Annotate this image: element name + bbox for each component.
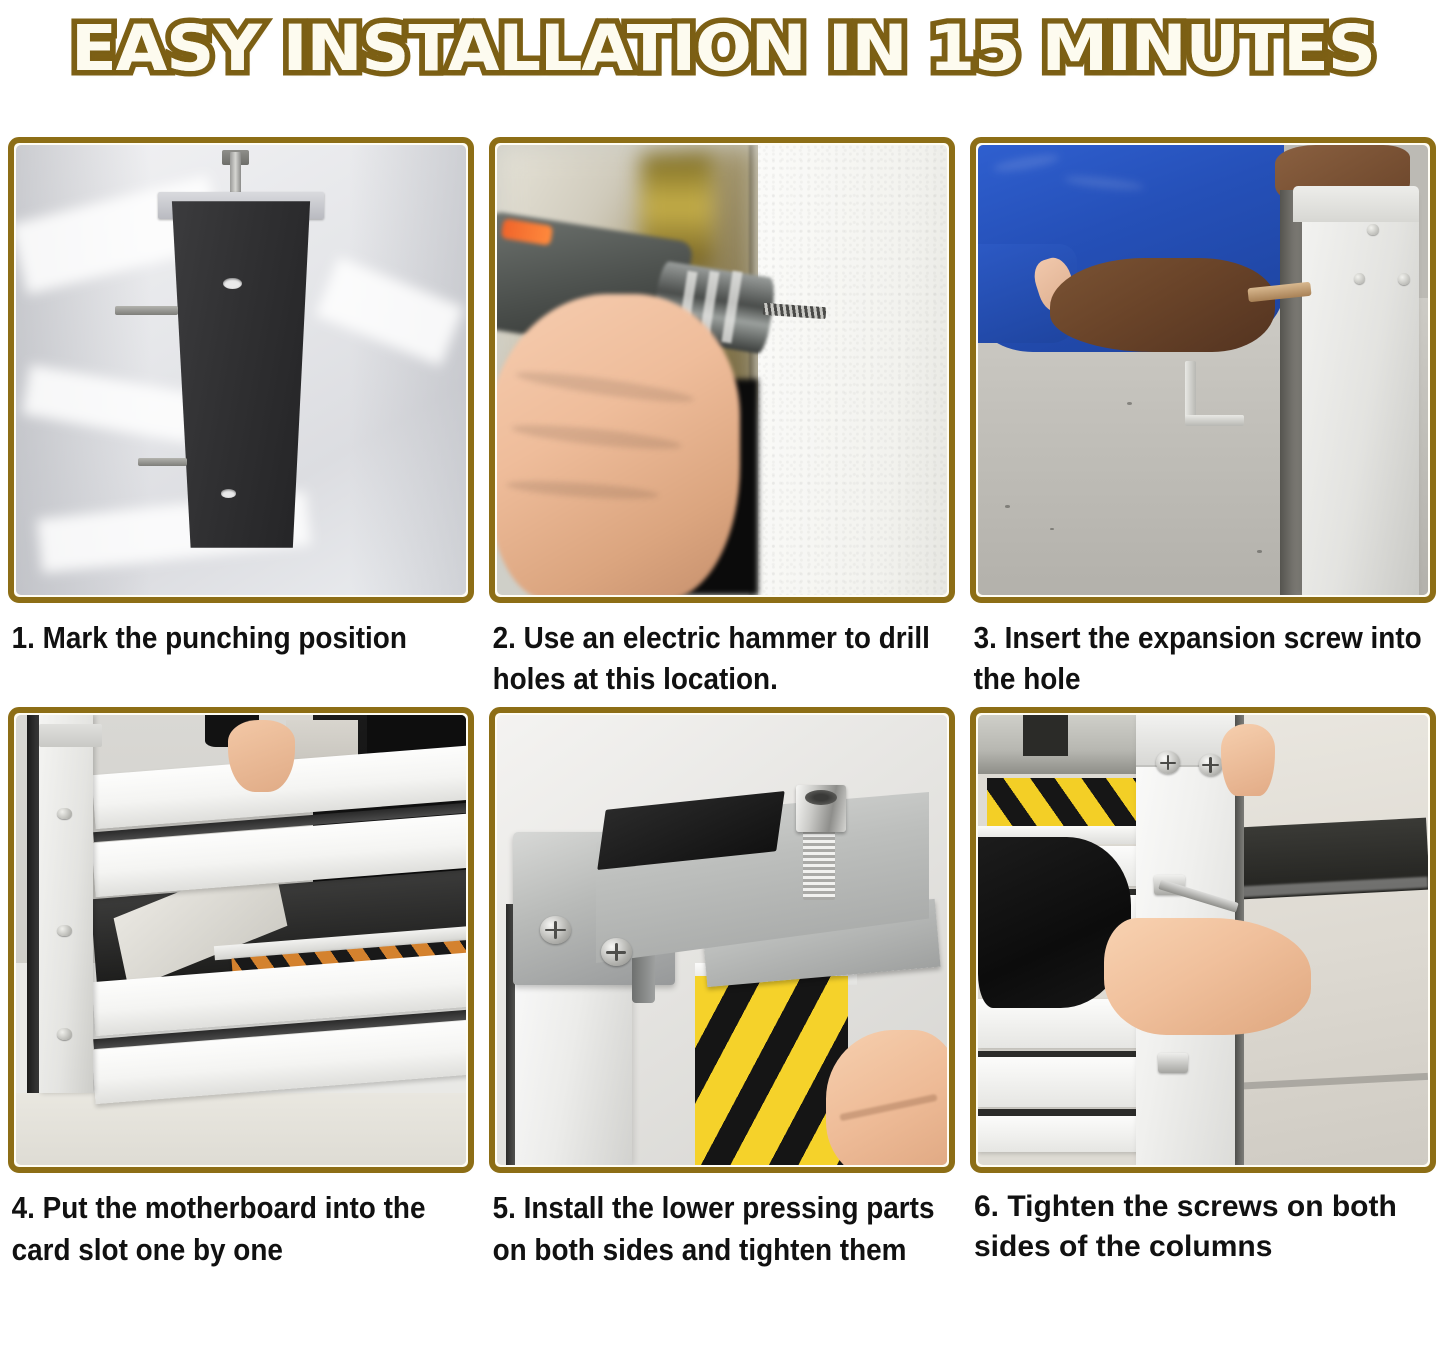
floor-speck (1050, 528, 1054, 530)
page-title-wrap: EASY INSTALLATION IN 15 MINUTES EASY INS… (108, 17, 1338, 80)
post-dark-edge (27, 715, 39, 1093)
post-screw (57, 1028, 71, 1040)
step-3-frame (970, 137, 1436, 603)
threaded-rod-icon (230, 152, 242, 197)
step-card-3: 3. Insert the expansion screw into the h… (970, 137, 1436, 699)
sheet-shadow-right (349, 145, 466, 595)
column-screw (1398, 273, 1410, 285)
hand (228, 720, 296, 792)
anchor-pin-upper (115, 306, 178, 315)
hazard-stripe-tape (695, 976, 848, 1165)
step-card-2: 2. Use an electric hammer to drill holes… (489, 137, 955, 699)
step-5-frame (489, 707, 955, 1173)
step-6-photo (978, 715, 1428, 1165)
bolt-thread-icon (803, 828, 835, 900)
shirt-fold (993, 152, 1061, 176)
page-title-bar: EASY INSTALLATION IN 15 MINUTES EASY INS… (0, 0, 1445, 96)
step-5-photo (497, 715, 947, 1165)
post-top-cap (39, 724, 102, 747)
step-6-caption: 6. Tighten the screws on both sides of t… (970, 1187, 1440, 1267)
column-top-bracket (1293, 186, 1419, 222)
post-screw (57, 925, 71, 937)
steps-row-2: 4. Put the motherboard into the card slo… (8, 707, 1437, 1269)
step-4-photo (16, 715, 466, 1165)
step-4-frame (8, 707, 474, 1173)
step-1-photo (16, 145, 466, 595)
anchor-pin-lower (138, 458, 188, 467)
second-hand (1221, 724, 1275, 796)
wall-surface (758, 145, 947, 595)
phillips-screw-icon (1156, 751, 1180, 774)
step-card-6: 6. Tighten the screws on both sides of t… (970, 707, 1436, 1267)
steps-row-1: 1. Mark the punching position (8, 137, 1437, 699)
step-2-caption: 2. Use an electric hammer to drill holes… (489, 617, 954, 699)
floor-surface (16, 1093, 466, 1165)
installation-guide-page: EASY INSTALLATION IN 15 MINUTES EASY INS… (0, 0, 1445, 1352)
mounting-post (169, 201, 313, 548)
step-2-frame (489, 137, 955, 603)
column-screw (1367, 224, 1379, 236)
column-shadow-edge (1280, 190, 1303, 595)
barrier-board (978, 1116, 1140, 1152)
floor-speck (1005, 505, 1010, 508)
background-dark-spot (1023, 715, 1068, 756)
phillips-screw-icon (1199, 754, 1223, 777)
step-6-frame (970, 707, 1436, 1173)
post-screw (57, 808, 71, 820)
worker-arm (1050, 258, 1275, 353)
step-5-caption: 5. Install the lower pressing parts on b… (489, 1187, 954, 1269)
hand (1104, 918, 1311, 1035)
phillips-screw-icon (601, 938, 633, 966)
step-3-caption: 3. Insert the expansion screw into the h… (970, 617, 1435, 699)
step-3-photo (978, 145, 1428, 595)
step-1-frame (8, 137, 474, 603)
step-card-5: 5. Install the lower pressing parts on b… (489, 707, 955, 1269)
step-card-1: 1. Mark the punching position (8, 137, 474, 658)
allen-wrench-arm (1185, 415, 1244, 426)
shirt-fold (1063, 174, 1143, 193)
step-2-photo (497, 145, 947, 595)
phillips-screw-icon (540, 916, 572, 944)
page-title-fill: EASY INSTALLATION IN 15 MINUTES (71, 17, 1375, 80)
column-bolt-low (1158, 1053, 1188, 1073)
bolt-socket (805, 790, 837, 805)
white-column (1302, 195, 1419, 596)
step-4-caption: 4. Put the motherboard into the card slo… (8, 1187, 473, 1269)
barrier-board (978, 1057, 1140, 1107)
floor-speck (1257, 550, 1262, 553)
step-1-caption: 1. Mark the punching position (8, 617, 473, 658)
steps-grid: 1. Mark the punching position (8, 137, 1437, 1270)
column-screw (1354, 273, 1365, 284)
step-card-4: 4. Put the motherboard into the card slo… (8, 707, 474, 1269)
hazard-stripe-tape (987, 778, 1136, 828)
